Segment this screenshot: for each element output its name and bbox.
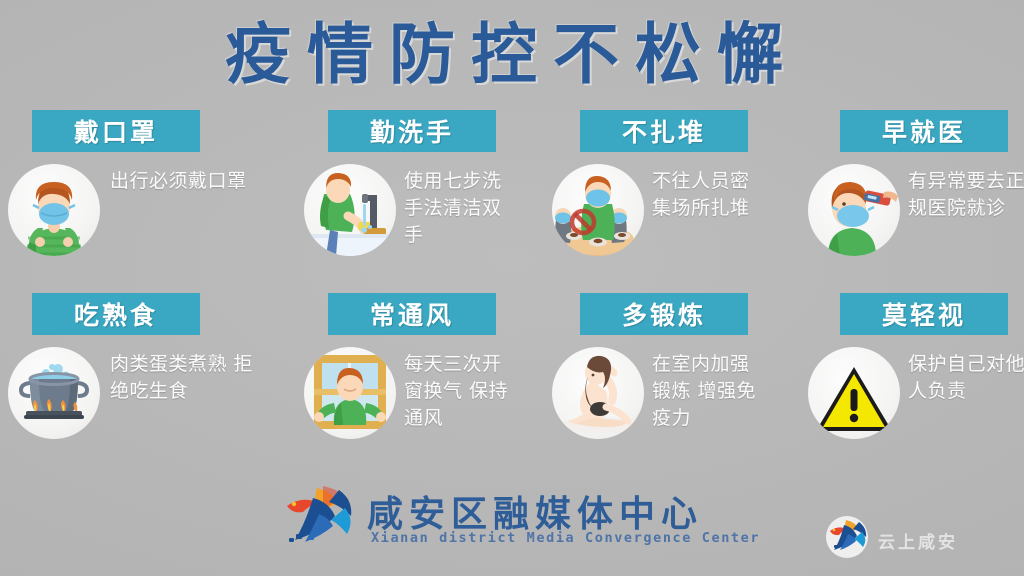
tip-badge-exercise: 多锻炼 <box>580 293 748 335</box>
temperature-check-thermometer-icon <box>808 164 900 256</box>
tip-body: 在室内加强锻炼 增强免疫力 <box>512 343 768 483</box>
yunshang-xianan-circle-logo-icon <box>826 516 868 558</box>
open-window-ventilation-icon <box>304 347 396 439</box>
tips-row-1: 戴口罩 <box>0 110 1024 300</box>
tip-badge-wash-hands: 勤洗手 <box>328 110 496 152</box>
tip-body: 使用七步洗手法清洁双手 <box>256 160 512 300</box>
tip-card-wash-hands[interactable]: 勤洗手 <box>256 110 512 300</box>
footer-name-en: Xianan district Media Convergence Center <box>371 530 760 546</box>
tip-description: 有异常要去正规医院就诊 <box>908 168 1024 222</box>
tip-card-cooked-food[interactable]: 吃熟食 <box>0 293 256 483</box>
tip-description: 使用七步洗手法清洁双手 <box>404 168 512 249</box>
tip-body: 有异常要去正规医院就诊 <box>768 160 1024 300</box>
tips-row-2: 吃熟食 <box>0 293 1024 483</box>
washing-hands-at-sink-icon <box>304 164 396 256</box>
tip-body: 保护自己对他人负责 <box>768 343 1024 483</box>
no-crowd-gathering-icon <box>552 164 644 256</box>
tip-card-dont-ignore[interactable]: 莫轻视 保护自己对他人负责 <box>768 293 1024 483</box>
tip-badge-seek-doctor: 早就医 <box>840 110 1008 152</box>
tip-body: 肉类蛋类煮熟 拒绝吃生食 <box>0 343 256 483</box>
tip-description: 肉类蛋类煮熟 拒绝吃生食 <box>110 351 256 405</box>
yoga-stretching-exercise-icon <box>552 347 644 439</box>
tip-badge-dont-ignore: 莫轻视 <box>840 293 1008 335</box>
tip-badge-ventilation: 常通风 <box>328 293 496 335</box>
watermark-label: 云上咸安 <box>878 528 958 553</box>
tip-description: 在室内加强锻炼 增强免疫力 <box>652 351 768 432</box>
media-center-bird-logo-icon <box>283 484 361 546</box>
warning-triangle-icon <box>808 347 900 439</box>
watermark: 云上咸安 <box>826 516 1016 562</box>
tip-description: 保护自己对他人负责 <box>908 351 1024 405</box>
tip-body: 不往人员密集场所扎堆 <box>512 160 768 300</box>
tip-description: 不往人员密集场所扎堆 <box>652 168 768 222</box>
tip-description: 出行必须戴口罩 <box>110 168 256 195</box>
tip-badge-mask: 戴口罩 <box>32 110 200 152</box>
poster-canvas: 疫情防控不松懈 戴口罩 <box>0 0 1024 576</box>
tip-body: 每天三次开窗换气 保持通风 <box>256 343 512 483</box>
footer-branding: 咸安区融媒体中心 Xianan district Media Convergen… <box>283 482 735 554</box>
boiling-pot-on-stove-icon <box>8 347 100 439</box>
tip-card-seek-doctor[interactable]: 早就医 <box>768 110 1024 300</box>
tip-description: 每天三次开窗换气 保持通风 <box>404 351 512 432</box>
tip-card-ventilation[interactable]: 常通风 <box>256 293 512 483</box>
person-wearing-mask-icon <box>8 164 100 256</box>
tip-body: 出行必须戴口罩 <box>0 160 256 300</box>
tip-card-exercise[interactable]: 多锻炼 <box>512 293 768 483</box>
tip-card-mask[interactable]: 戴口罩 <box>0 110 256 300</box>
tip-badge-no-crowd: 不扎堆 <box>580 110 748 152</box>
page-title: 疫情防控不松懈 <box>0 16 1024 94</box>
tip-card-no-crowd[interactable]: 不扎堆 <box>512 110 768 300</box>
tip-badge-cooked-food: 吃熟食 <box>32 293 200 335</box>
